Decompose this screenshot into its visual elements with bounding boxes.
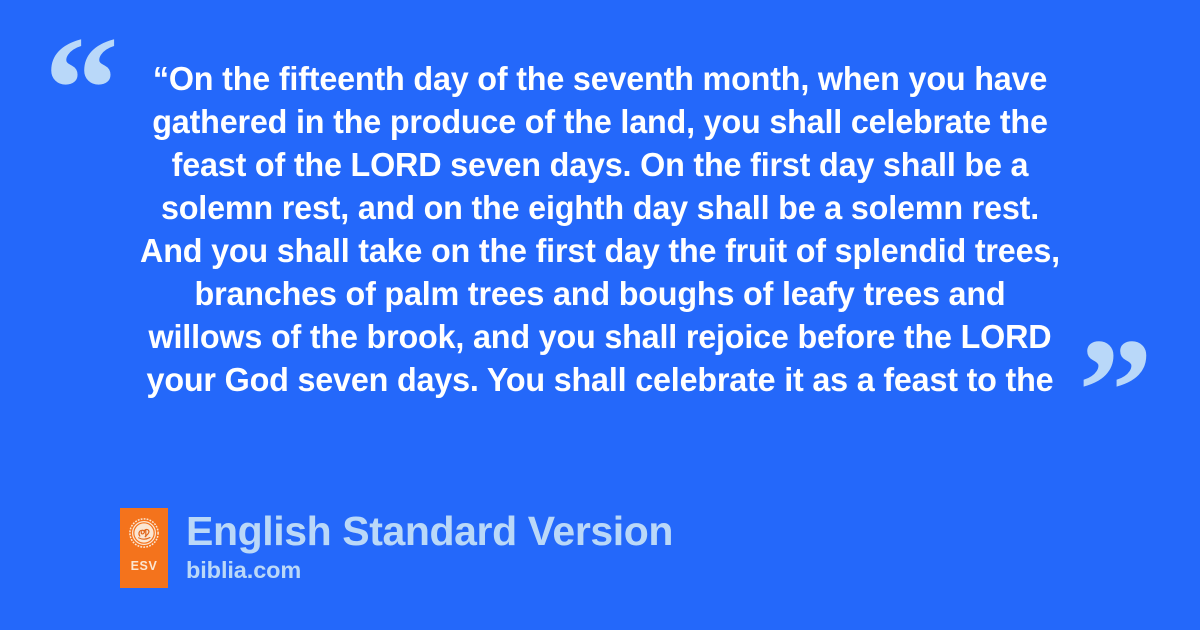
esv-logo: ESV xyxy=(120,508,168,588)
attribution-footer: ESV English Standard Version biblia.com xyxy=(120,508,673,588)
esv-seal-icon xyxy=(129,518,159,548)
esv-logo-label: ESV xyxy=(131,560,158,573)
bible-version-name: English Standard Version xyxy=(186,508,673,554)
quote-line: branches of palm trees and boughs of lea… xyxy=(118,273,1083,316)
site-url-label[interactable]: biblia.com xyxy=(186,556,673,584)
quote-line: willows of the brook, and you shall rejo… xyxy=(118,316,1083,359)
decorative-close-quote-icon: ” xyxy=(1078,316,1149,466)
quote-line: your God seven days. You shall celebrate… xyxy=(118,359,1083,402)
quote-text-block: “On the fifteenth day of the seventh mon… xyxy=(100,58,1100,402)
attribution-text-group: English Standard Version biblia.com xyxy=(186,508,673,584)
quote-line: gathered in the produce of the land, you… xyxy=(118,101,1083,144)
quote-line: “On the fifteenth day of the seventh mon… xyxy=(118,58,1083,101)
quote-line: feast of the LORD seven days. On the fir… xyxy=(118,144,1083,187)
quote-line: solemn rest, and on the eighth day shall… xyxy=(118,187,1083,230)
bible-verse-quote-card: “ “On the fifteenth day of the seventh m… xyxy=(0,0,1200,630)
quote-line: And you shall take on the first day the … xyxy=(118,230,1083,273)
